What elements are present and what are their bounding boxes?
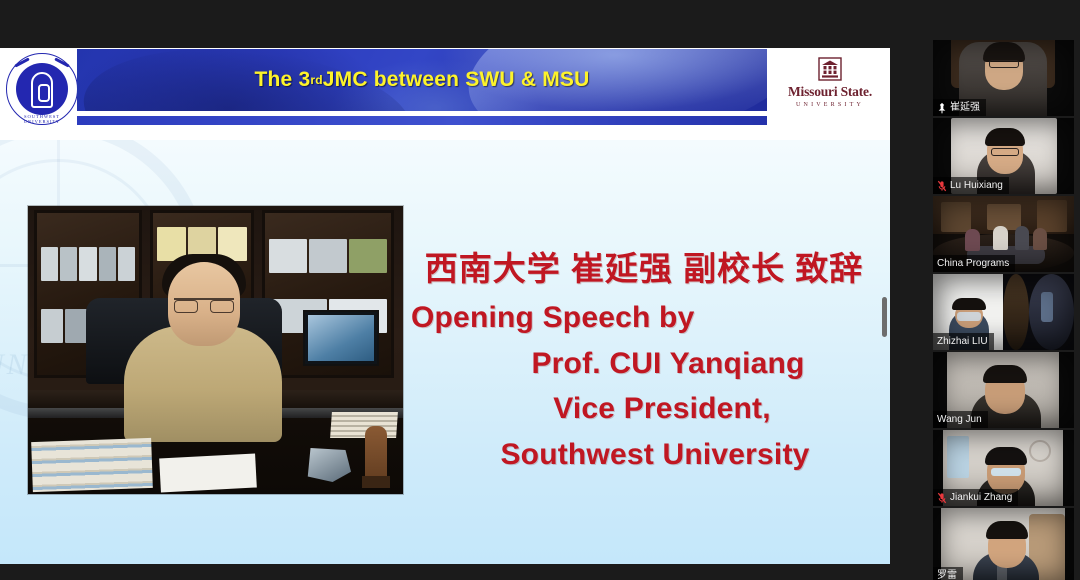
slide-header-rule — [77, 116, 767, 125]
shared-screen-stage[interactable]: UNIVERSITY SOUTHWEST UNIVERSITY — [0, 0, 927, 580]
participant-tile[interactable]: China Programs — [933, 196, 1074, 272]
speaker-photo — [28, 206, 403, 494]
southwest-university-seal-icon: SOUTHWEST UNIVERSITY — [5, 52, 79, 126]
bear-hall-building-icon — [816, 55, 844, 83]
slide-title-prefix: The 3 — [255, 68, 311, 92]
share-view-divider-handle[interactable] — [882, 297, 887, 337]
participant-name: 罗雷 — [937, 569, 957, 580]
slide-header: SOUTHWEST UNIVERSITY The 3rd JMC between… — [0, 48, 890, 140]
pin-icon — [937, 102, 947, 114]
slide-line-opening-speech: Opening Speech by — [405, 295, 883, 341]
msu-wordmark: Missouri State. — [778, 85, 882, 99]
slide-title: The 3rd JMC between SWU & MSU — [77, 49, 767, 111]
slide-title-rest: JMC between SWU & MSU — [323, 68, 590, 92]
participant-name: 崔延强 — [950, 101, 980, 114]
participant-label: Lu Huixiang — [933, 177, 1009, 194]
slide-line-institution: Southwest University — [405, 432, 883, 478]
participant-name: China Programs — [937, 257, 1009, 270]
presentation-slide: UNIVERSITY SOUTHWEST UNIVERSITY — [0, 48, 890, 564]
participant-filmstrip[interactable]: 崔延强 Lu Huixiang — [927, 0, 1080, 580]
participant-label: 崔延强 — [933, 99, 986, 116]
participant-label: Zhizhai LIU — [933, 333, 994, 350]
seal-caption: SOUTHWEST UNIVERSITY — [5, 114, 79, 124]
participant-label: Jiankui Zhang — [933, 489, 1018, 506]
mic-muted-icon — [937, 492, 947, 504]
participant-tile[interactable]: Jiankui Zhang — [933, 430, 1074, 506]
participant-tile[interactable]: 崔延强 — [933, 40, 1074, 116]
participant-name: Wang Jun — [937, 413, 982, 426]
mic-muted-icon — [937, 180, 947, 192]
slide-line-chinese: 西南大学 崔延强 副校长 致辞 — [405, 248, 883, 289]
slide-title-banner: The 3rd JMC between SWU & MSU — [77, 49, 767, 111]
participant-tile[interactable]: Wang Jun — [933, 352, 1074, 428]
participant-name: Zhizhai LIU — [937, 335, 988, 348]
participant-name: Jiankui Zhang — [950, 491, 1012, 504]
slide-body-text: 西南大学 崔延强 副校长 致辞 Opening Speech by Prof. … — [405, 248, 883, 478]
video-conference-window: UNIVERSITY SOUTHWEST UNIVERSITY — [0, 0, 1080, 580]
msu-subtitle: UNIVERSITY — [778, 102, 882, 108]
participant-tile[interactable]: Zhizhai LIU — [933, 274, 1074, 350]
missouri-state-university-logo-icon: Missouri State. UNIVERSITY — [778, 54, 882, 118]
participant-label: 罗雷 — [933, 567, 963, 580]
slide-line-speaker-title: Vice President, — [405, 386, 883, 432]
slide-line-speaker-name: Prof. CUI Yanqiang — [405, 341, 883, 387]
participant-tile[interactable]: Lu Huixiang — [933, 118, 1074, 194]
participant-tile[interactable]: 罗雷 — [933, 508, 1074, 580]
participant-label: Wang Jun — [933, 411, 988, 428]
participant-name: Lu Huixiang — [950, 179, 1003, 192]
participant-label: China Programs — [933, 255, 1015, 272]
